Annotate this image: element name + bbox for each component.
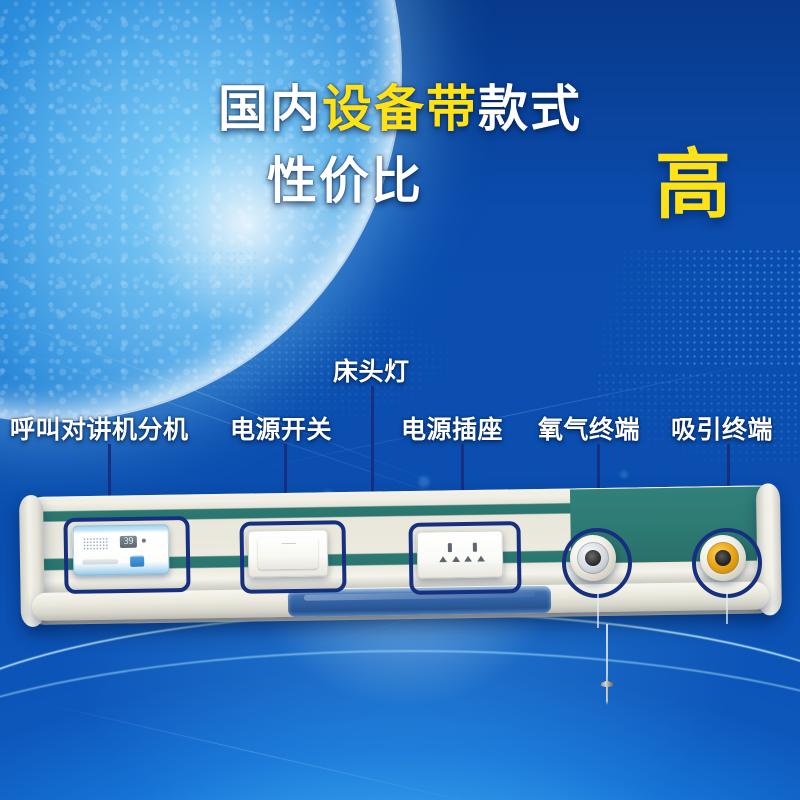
headline-line-1: 国内设备带款式 bbox=[0, 84, 800, 134]
banner-stage: 国内设备带款式 性价比 高 呼叫对讲机分机 电源开关 床头灯 电源插座 氧气终端… bbox=[0, 0, 800, 800]
callout-label-power-switch: 电源开关 bbox=[230, 418, 332, 443]
headline-accent-gao: 高 bbox=[655, 148, 731, 224]
callout-label-suction-terminal: 吸引终端 bbox=[671, 418, 773, 443]
callout-label-nurse-call-intercom: 呼叫对讲机分机 bbox=[10, 418, 189, 443]
cord-hook-icon bbox=[595, 676, 619, 706]
highlight-box-nurse-call-intercom bbox=[63, 516, 190, 594]
oxygen-terminal-cord bbox=[597, 588, 599, 628]
suction-terminal-cord bbox=[726, 588, 728, 624]
headline-line-1-part-2: 款式 bbox=[478, 81, 582, 137]
headline-line-1-part-1: 国内 bbox=[218, 81, 322, 137]
callout-label-power-socket: 电源插座 bbox=[401, 418, 503, 443]
horizon-arc-line-2 bbox=[0, 650, 800, 800]
highlight-box-power-switch bbox=[239, 520, 346, 594]
callout-label-bed-lamp: 床头灯 bbox=[333, 360, 410, 385]
callout-label-oxygen-terminal: 氧气终端 bbox=[538, 418, 640, 443]
hanging-cord bbox=[606, 624, 608, 682]
headline-line-1-highlight: 设备带 bbox=[322, 81, 478, 137]
highlight-box-power-socket bbox=[408, 521, 521, 595]
